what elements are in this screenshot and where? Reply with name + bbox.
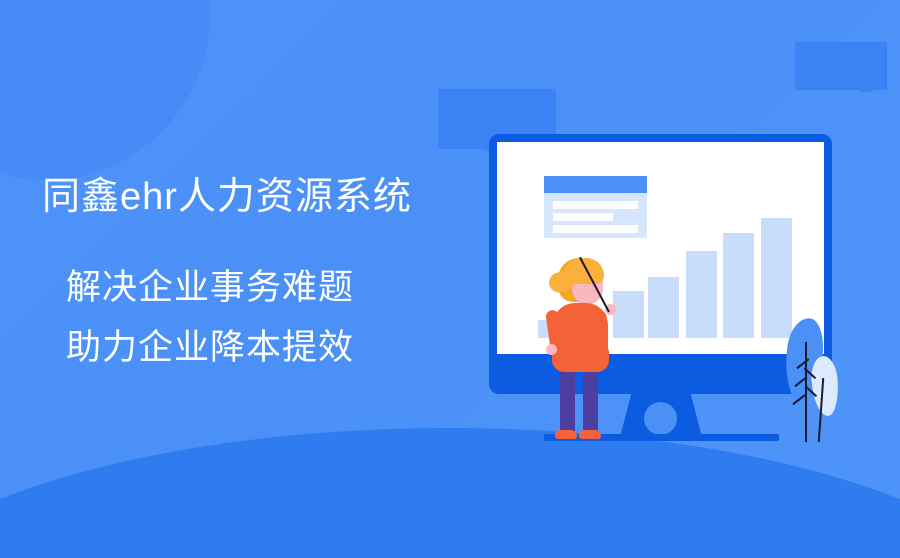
chart-bar [723, 233, 754, 338]
chart-bar [648, 277, 679, 338]
background-circle-decor [0, 0, 210, 180]
shoe-left [555, 430, 577, 439]
leg-left [560, 364, 575, 432]
dashboard-card [544, 176, 647, 238]
card-text-row [553, 201, 638, 209]
plant-stem [805, 342, 807, 442]
ground-wave-decor [0, 428, 900, 558]
chart-bar [686, 251, 717, 338]
cloud-body [795, 60, 887, 90]
plant-leaf-small [810, 355, 840, 417]
leg-right [583, 364, 598, 432]
promo-banner: 同鑫ehr人力资源系统 解决企业事务难题 助力企业降本提效 [0, 0, 900, 558]
card-text-row [553, 225, 638, 233]
cloud-icon-right [795, 42, 887, 90]
page-title: 同鑫ehr人力资源系统 [42, 178, 412, 216]
shoe-right [579, 430, 601, 439]
subtitle-line-1: 解决企业事务难题 [66, 270, 354, 305]
decorative-plant [780, 318, 850, 444]
subtitle-line-2: 助力企业降本提效 [66, 330, 354, 365]
card-header-bar [544, 176, 647, 193]
monitor-stand-knob [644, 402, 677, 435]
hand-left [546, 344, 557, 355]
presenter-figure [546, 258, 618, 444]
card-text-row [553, 213, 613, 221]
